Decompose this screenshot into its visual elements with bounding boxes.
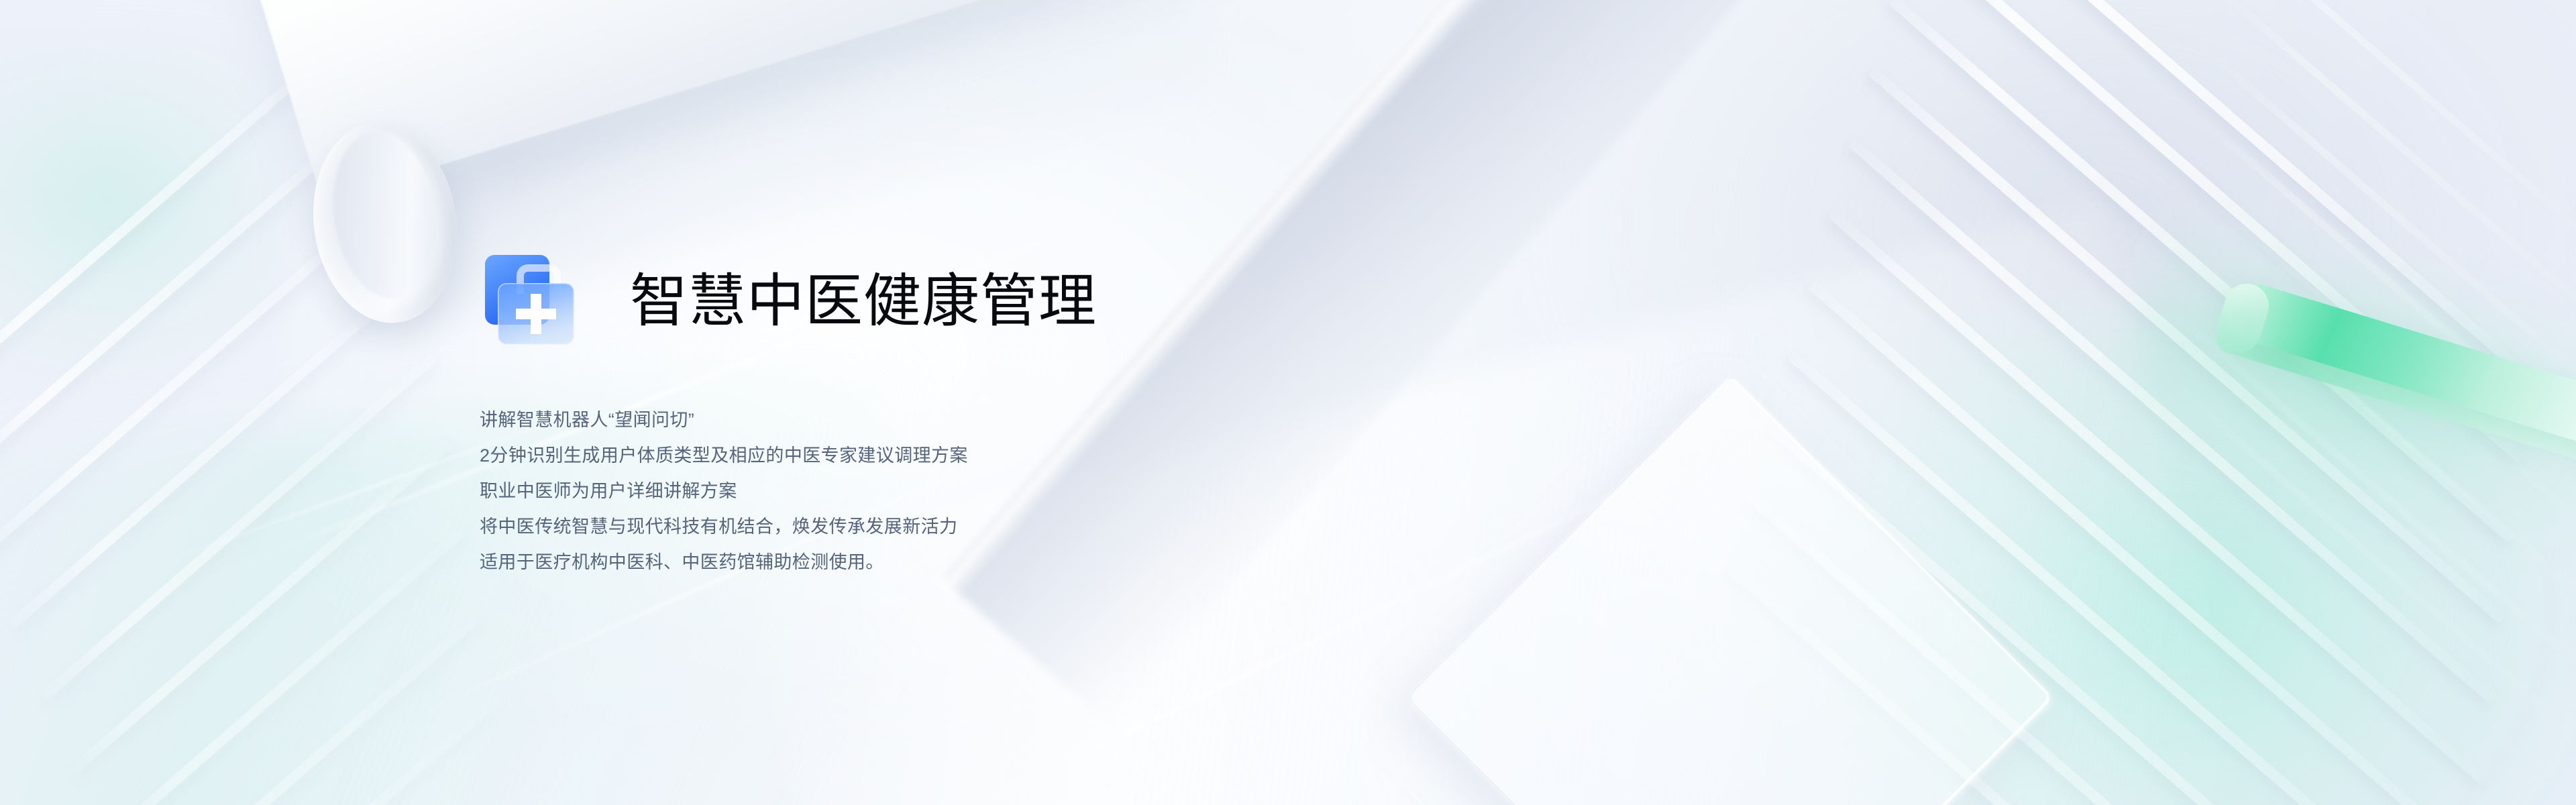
page-title: 智慧中医健康管理 bbox=[630, 272, 1097, 330]
description-line: 适用于医疗机构中医科、中医药馆辅助检测使用。 bbox=[480, 545, 1352, 580]
description-line: 职业中医师为用户详细讲解方案 bbox=[480, 474, 1352, 509]
description-line: 将中医传统智慧与现代科技有机结合，焕发传承发展新活力 bbox=[480, 509, 1352, 545]
banner-content: 智慧中医健康管理 讲解智慧机器人“望闻问切”2分钟识别生成用户体质类型及相应的中… bbox=[480, 254, 1352, 580]
banner-description: 讲解智慧机器人“望闻问切”2分钟识别生成用户体质类型及相应的中医专家建议调理方案… bbox=[480, 402, 1352, 580]
description-line: 2分钟识别生成用户体质类型及相应的中医专家建议调理方案 bbox=[480, 438, 1352, 474]
description-line: 讲解智慧机器人“望闻问切” bbox=[480, 402, 1352, 438]
medical-briefcase-icon bbox=[480, 254, 578, 349]
title-row: 智慧中医健康管理 bbox=[480, 254, 1352, 349]
hero-banner: 智慧中医健康管理 讲解智慧机器人“望闻问切”2分钟识别生成用户体质类型及相应的中… bbox=[0, 0, 2576, 805]
medical-cross-icon bbox=[516, 309, 556, 319]
